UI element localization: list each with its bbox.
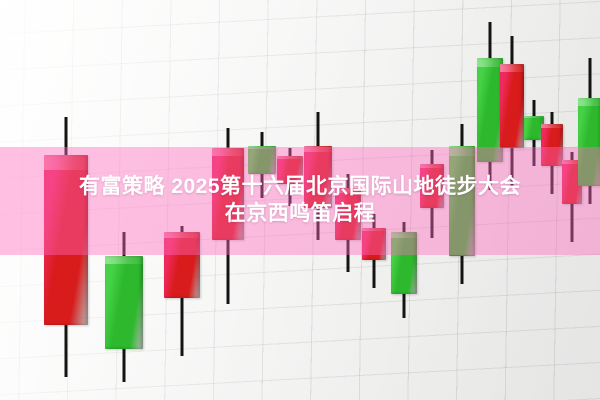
candle-top-face-18 <box>578 98 600 106</box>
candle-body-2 <box>105 256 143 349</box>
candle-body-14 <box>500 64 524 148</box>
candlestick-chart-banner: 有富策略 2025第十六届北京国际山地徒步大会 在京西鸣笛启程 <box>0 0 600 400</box>
candle-top-face-16 <box>541 124 563 128</box>
candle-top-face-2 <box>105 256 143 264</box>
headline-line-1: 有富策略 2025第十六届北京国际山地徒步大会 <box>79 174 521 201</box>
candle-top-face-14 <box>500 64 524 72</box>
headline-overlay-band: 有富策略 2025第十六届北京国际山地徒步大会 在京西鸣笛启程 <box>0 147 600 255</box>
headline-line-2: 在京西鸣笛启程 <box>225 201 376 228</box>
